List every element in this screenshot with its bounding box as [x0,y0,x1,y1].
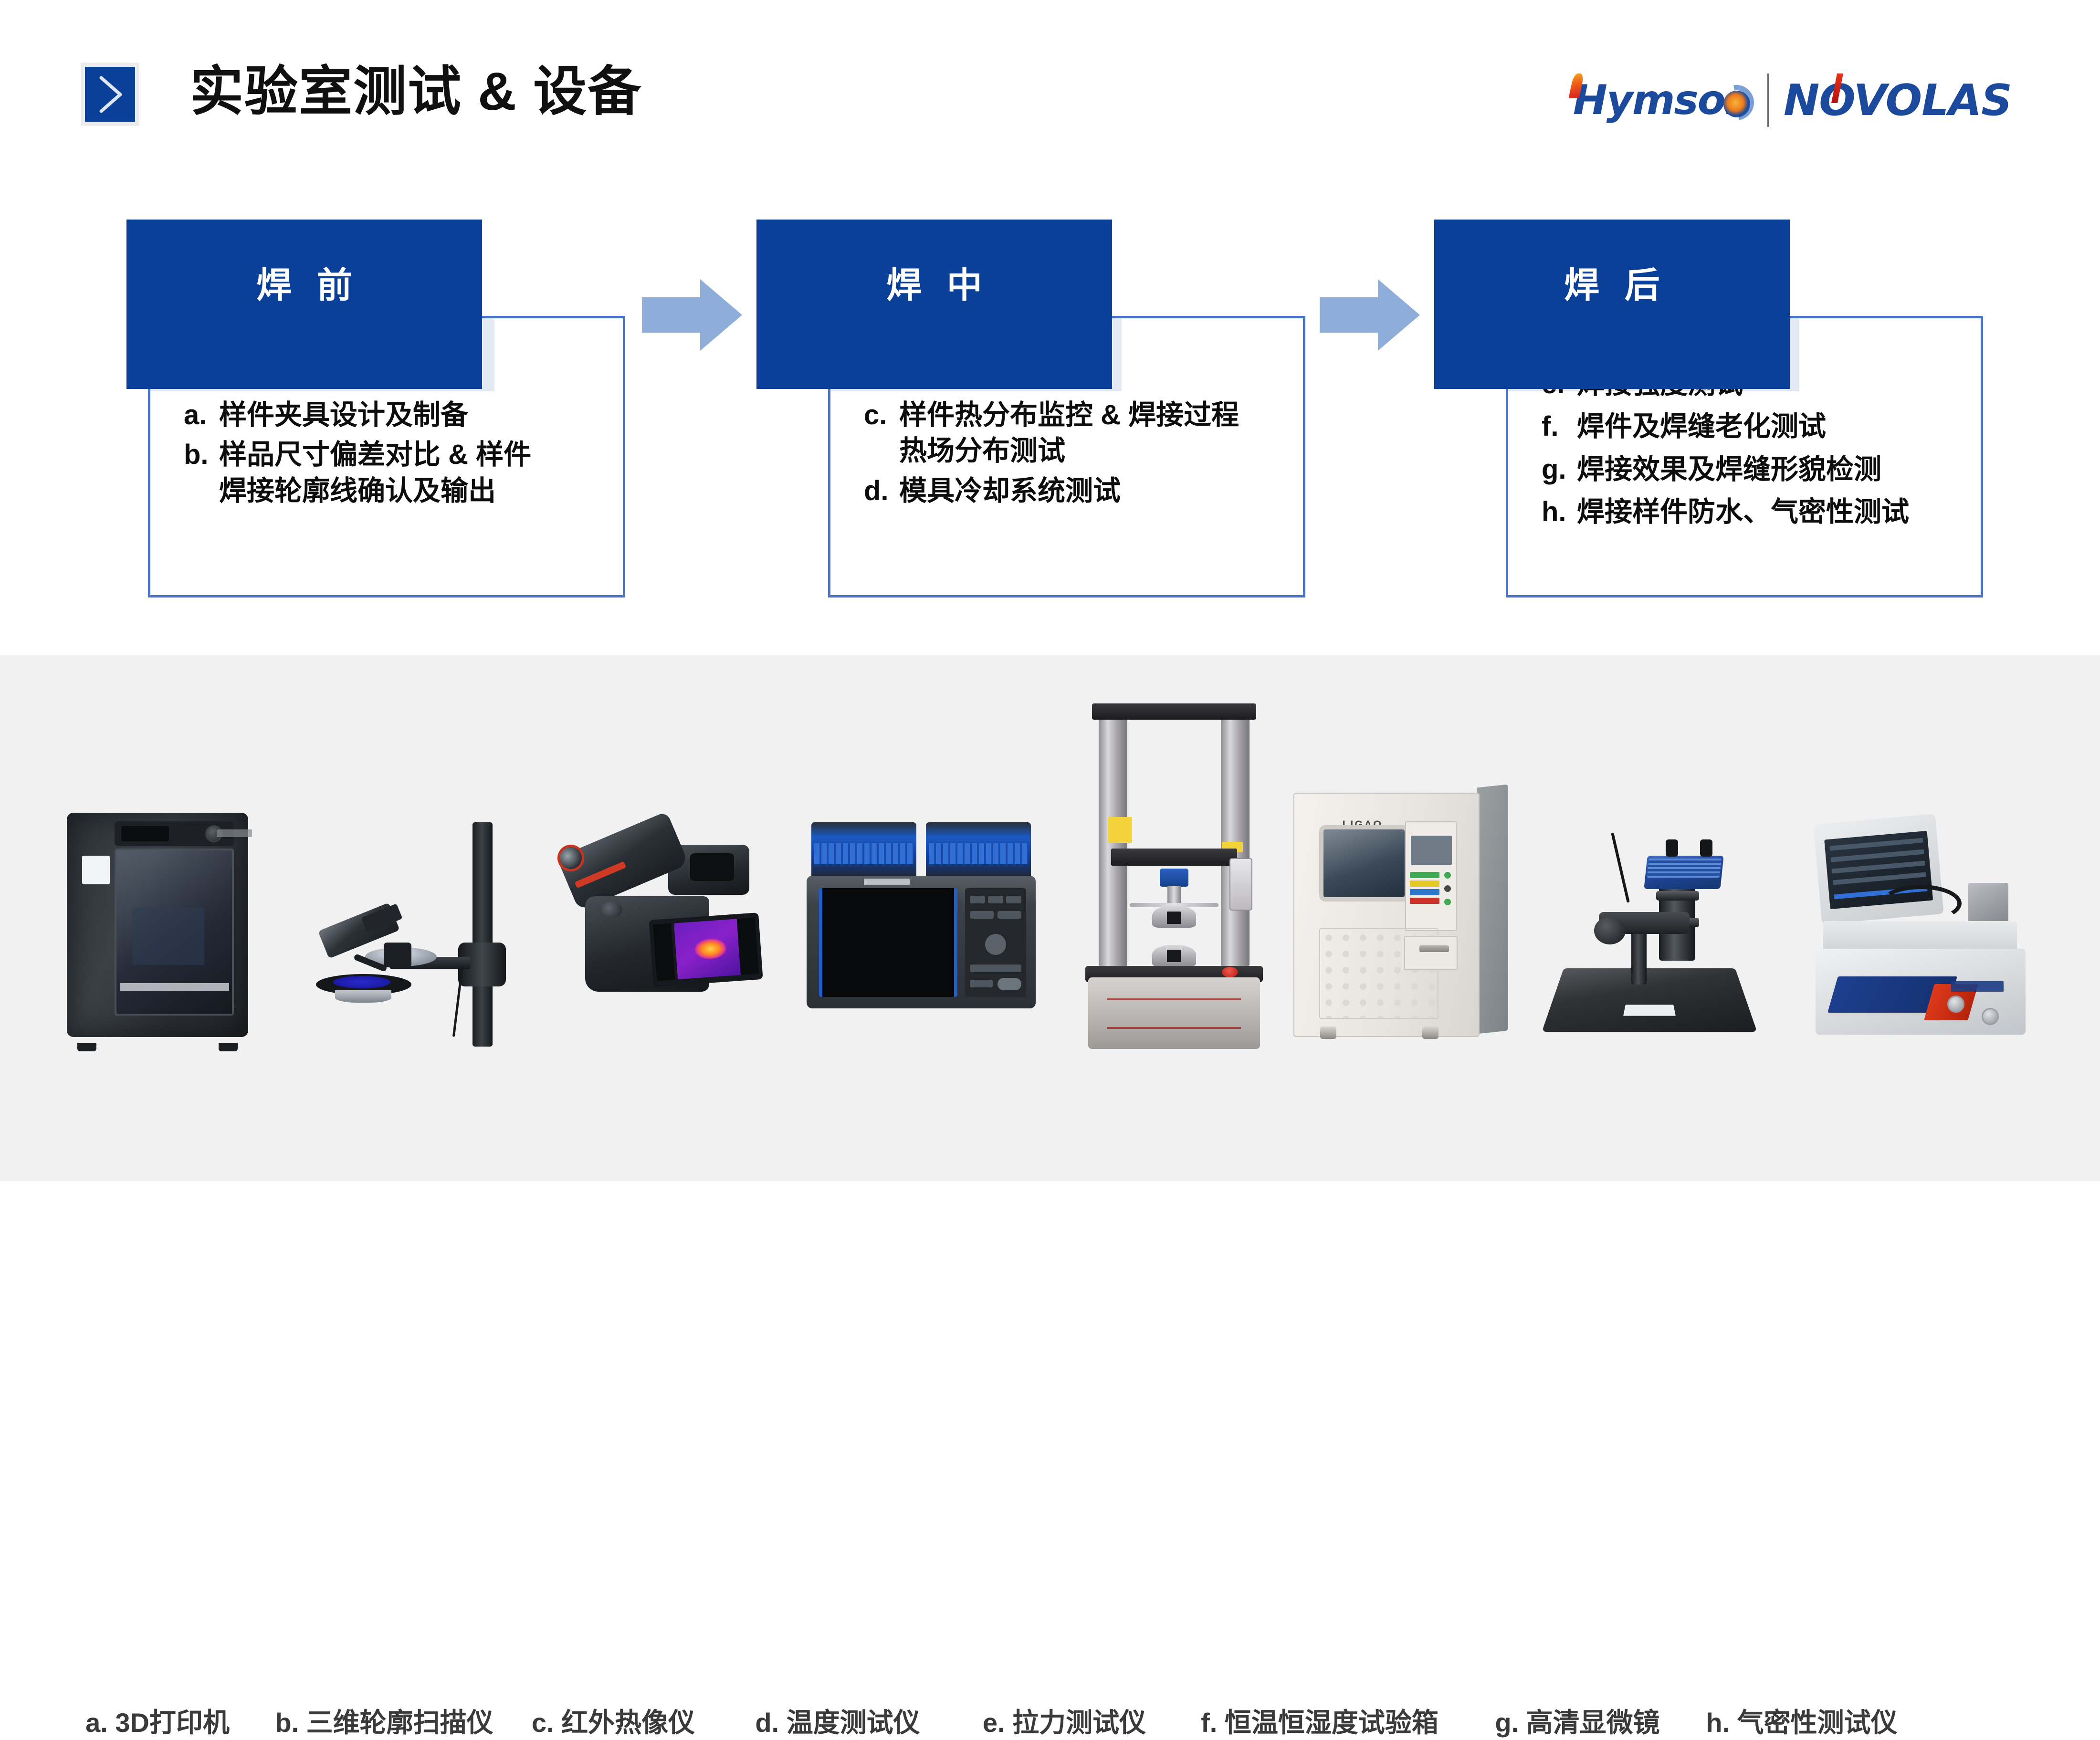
3d-profile-scanner-photo [310,822,520,1047]
equipment-cell-b [310,822,520,1047]
constant-temperature-humidity-chamber-photo: LIGAO [1289,779,1508,1047]
list-marker: b. [184,437,219,472]
equipment-caption-g: g. 高清显微镜 [1470,1701,1685,1740]
list-text: 样品尺寸偏差对比 & 样件 焊接轮廓线确认及输出 [219,437,531,509]
equipment-caption-h: h. 气密性测试仪 [1690,1701,1914,1740]
stage-pre-weld-header: 焊 前 [126,220,482,389]
list-marker: c. [864,397,899,433]
list-marker: a. [184,397,219,433]
list-item: b. 样品尺寸偏差对比 & 样件 焊接轮廓线确认及输出 [184,437,609,509]
equipment-cell-e [1083,701,1265,1049]
equipment-cell-h [1809,815,2033,1039]
equipment-cell-a [52,779,262,1047]
list-item: g. 焊接效果及焊缝形貌检测 [1542,451,1966,487]
stage-during-weld-list: c. 样件热分布监控 & 焊接过程 热场分布测试 d. 模具冷却系统测试 [864,397,1289,513]
equipment-gallery: LIGAO [0,655,2100,1181]
stage-title: 焊 中 [756,257,1112,308]
list-marker: h. [1542,494,1577,530]
flow-arrow-icon [642,279,742,351]
equipment-cell-f: LIGAO [1289,779,1508,1047]
equipment-caption-a: a. 3D打印机 [52,1701,262,1740]
list-text: 焊件及焊缝老化测试 [1577,409,1826,444]
equipment-photo-row: LIGAO [0,655,2100,1075]
stage-pre-weld-list: a. 样件夹具设计及制备 b. 样品尺寸偏差对比 & 样件 焊接轮廓线确认及输出 [184,397,609,513]
stage-title: 焊 后 [1434,257,1790,308]
list-text: 样件夹具设计及制备 [219,397,468,433]
airtightness-tester-photo [1809,815,2033,1039]
list-text: 焊接效果及焊缝形貌检测 [1577,451,1881,487]
stage-post-weld-header: 焊 后 [1434,220,1790,389]
list-text: 焊接样件防水、气密性测试 [1577,494,1909,530]
equipment-caption-e: e. 拉力测试仪 [959,1701,1169,1740]
list-marker: f. [1542,409,1577,444]
stage-post-weld-list: e. 焊接强度测试 f. 焊件及焊缝老化测试 g. 焊接效果及焊缝形貌检测 h.… [1542,366,1966,537]
tensile-testing-machine-photo [1083,701,1265,1049]
list-item: h. 焊接样件防水、气密性测试 [1542,494,1966,530]
equipment-cell-g [1546,798,1756,1047]
list-text: 样件热分布监控 & 焊接过程 热场分布测试 [899,397,1239,469]
list-item: d. 模具冷却系统测试 [864,473,1289,509]
equipment-caption-c: c. 红外热像仪 [506,1701,721,1740]
list-item: a. 样件夹具设计及制备 [184,397,609,433]
stage-title: 焊 前 [126,257,482,308]
equipment-cell-d [807,822,1036,1013]
infrared-thermal-camera-photo [554,815,764,1025]
temperature-data-logger-photo [807,822,1036,1013]
equipment-cell-c [554,815,764,1025]
equipment-caption-b: b. 三维轮廓扫描仪 [262,1701,506,1740]
process-flow: a. 样件夹具设计及制备 b. 样品尺寸偏差对比 & 样件 焊接轮廓线确认及输出… [0,0,2100,655]
equipment-caption-d: d. 温度测试仪 [725,1701,950,1740]
3d-printer-photo [52,779,262,1047]
list-item: f. 焊件及焊缝老化测试 [1542,409,1966,444]
flow-arrow-icon [1320,279,1420,351]
list-item: c. 样件热分布监控 & 焊接过程 热场分布测试 [864,397,1289,469]
list-text: 模具冷却系统测试 [899,473,1121,509]
stage-during-weld-header: 焊 中 [756,220,1112,389]
list-marker: g. [1542,451,1577,487]
list-marker: d. [864,473,899,509]
hd-microscope-photo [1546,798,1756,1047]
equipment-caption-f: f. 恒温恒湿度试验箱 [1174,1701,1465,1740]
equipment-caption-row: a. 3D打印机 b. 三维轮廓扫描仪 c. 红外热像仪 d. 温度测试仪 e.… [0,1701,2100,1740]
